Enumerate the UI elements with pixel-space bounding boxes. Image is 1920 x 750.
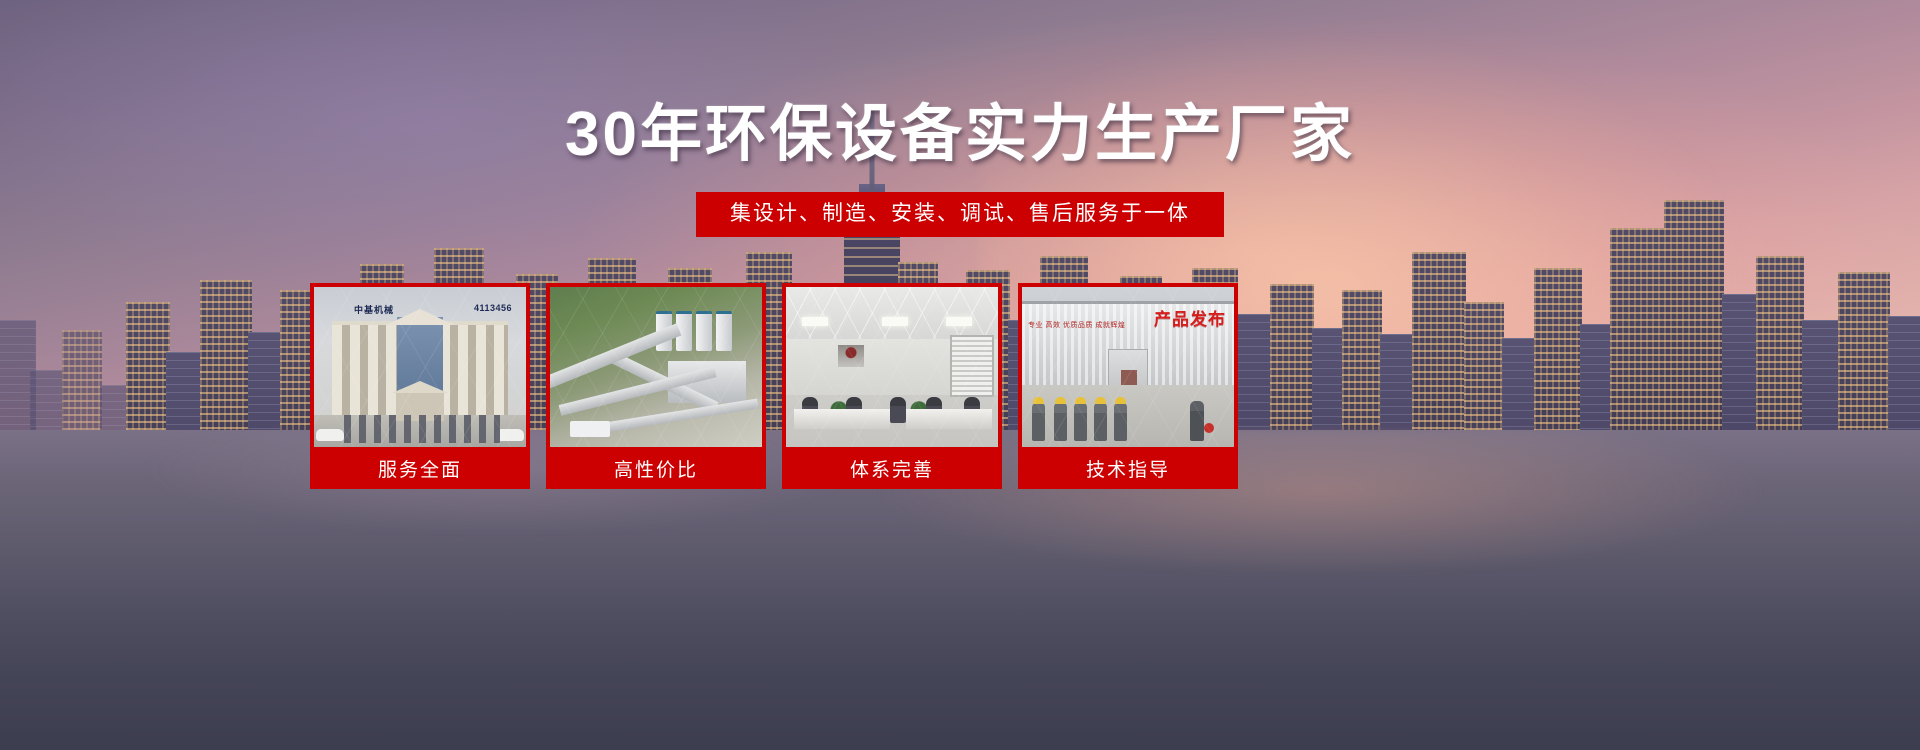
building-sign-name: 中基机械	[354, 303, 394, 316]
red-helmet-icon	[1204, 423, 1214, 433]
aerial-plant-photo	[550, 287, 762, 447]
feature-card-label: 高性价比	[550, 447, 762, 489]
subtitle-container: 集设计、制造、安装、调试、售后服务于一体	[0, 192, 1920, 237]
feature-card-label: 技术指导	[1022, 447, 1234, 489]
feature-card-label: 体系完善	[786, 447, 998, 489]
feature-card[interactable]: 产品发布 专业 高效 优质品质 成就辉煌 技术指导	[1018, 283, 1238, 489]
feature-card-label: 服务全面	[314, 447, 526, 489]
feature-card-row: 中基机械 4113456 服务全面	[310, 283, 1238, 489]
page-title: 30年环保设备实力生产厂家	[0, 104, 1920, 166]
factory-sign-slogan: 专业 高效 优质品质 成就辉煌	[1028, 321, 1125, 330]
hero-banner: 30年环保设备实力生产厂家 集设计、制造、安装、调试、售后服务于一体 中基机械 …	[0, 0, 1920, 750]
feature-card[interactable]: 中基机械 4113456 服务全面	[310, 283, 530, 489]
factory-workers-photo: 产品发布 专业 高效 优质品质 成就辉煌	[1022, 287, 1234, 447]
building-sign-phone: 4113456	[474, 303, 512, 313]
office-building-photo: 中基机械 4113456	[314, 287, 526, 447]
office-interior-photo	[786, 287, 998, 447]
subtitle-badge: 集设计、制造、安装、调试、售后服务于一体	[696, 192, 1224, 237]
feature-card[interactable]: 高性价比	[546, 283, 766, 489]
factory-sign-main: 产品发布	[1154, 305, 1226, 330]
feature-card[interactable]: 体系完善	[782, 283, 1002, 489]
